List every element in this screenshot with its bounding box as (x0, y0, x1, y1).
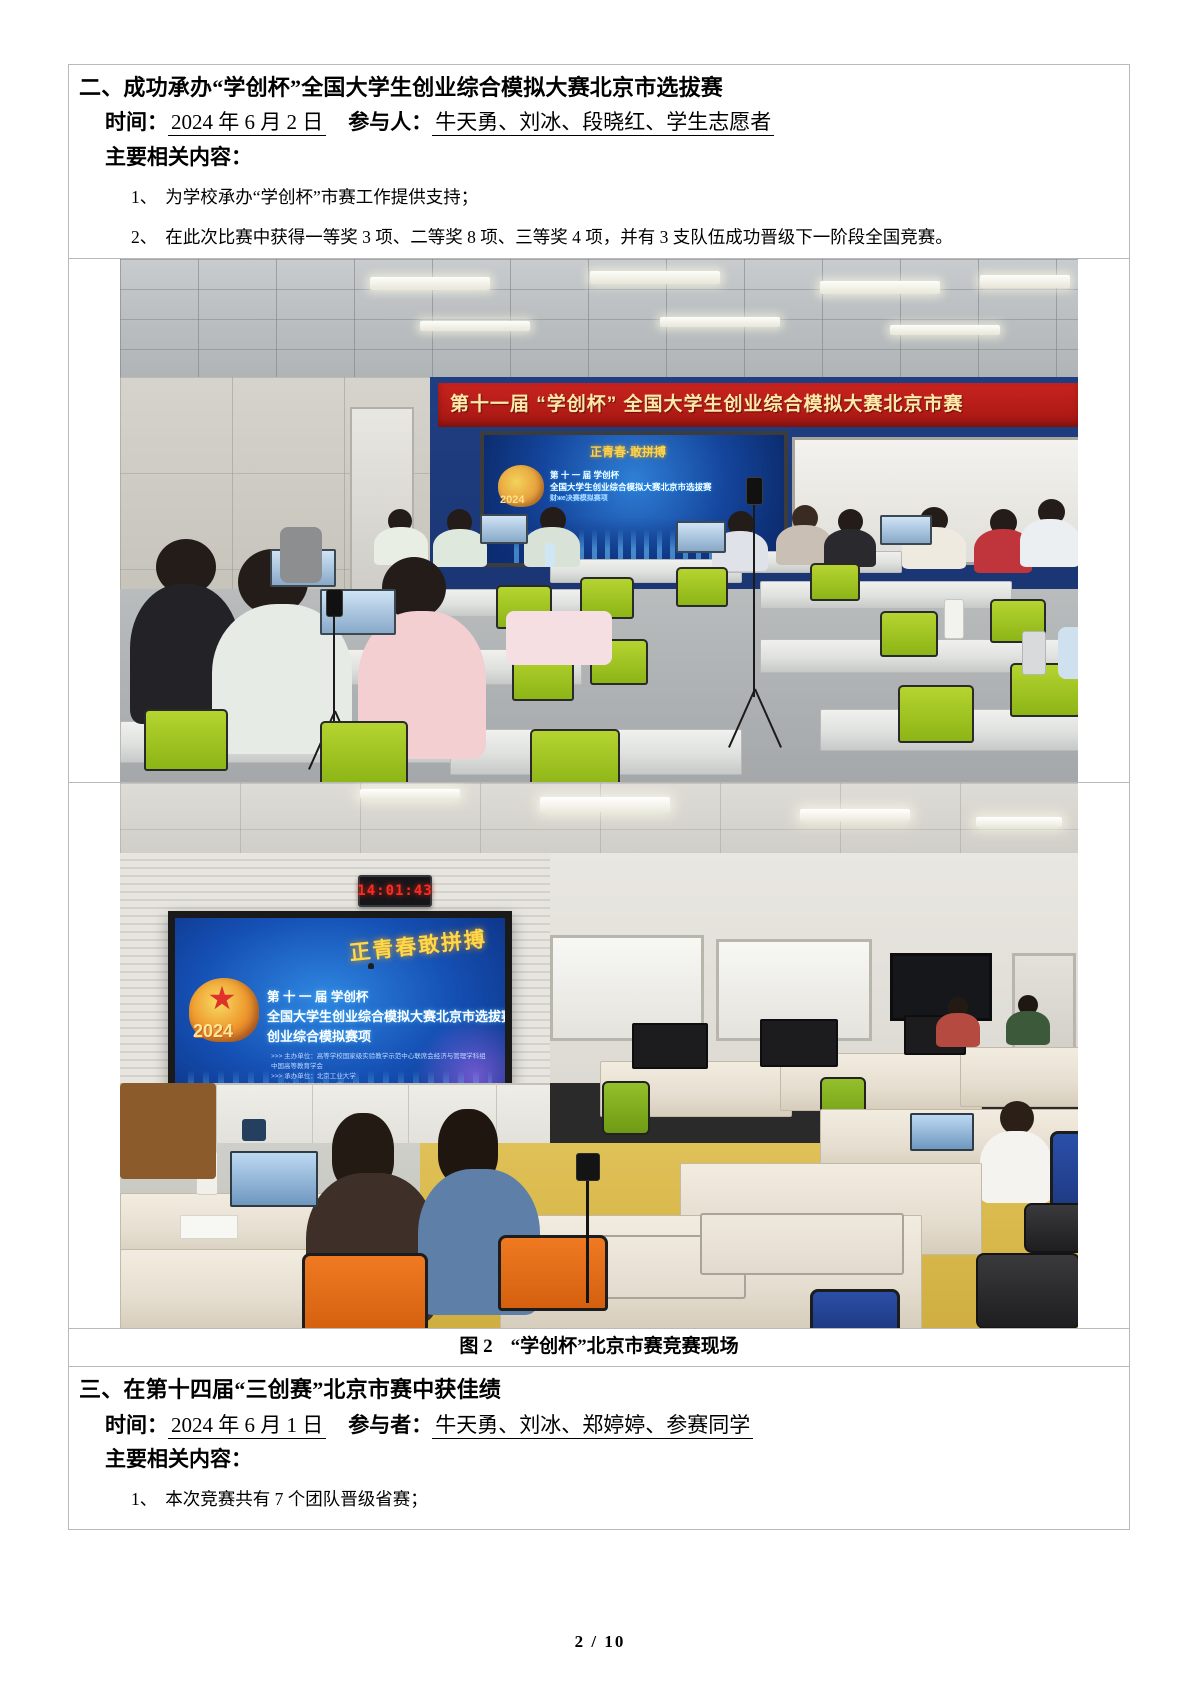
bullet-text: 本次竞赛共有 7 个团队晋级省赛； (165, 1489, 428, 1509)
led-line-1: 第 十 一 届 学创杯 (267, 986, 368, 1005)
chair (530, 729, 620, 782)
digital-clock: 14:01:43 (358, 875, 432, 907)
ceiling-lamp (370, 277, 490, 290)
desk (760, 581, 1012, 609)
led-slogan: 正青春敢拼搏 (348, 922, 488, 966)
event-logo (498, 465, 544, 507)
section-two-bullet-1: 1、为学校承办“学创杯”市赛工作提供支持； (69, 177, 1129, 217)
section-three-heading: 三、在第十四届“三创赛”北京市赛中获佳绩 (69, 1367, 1129, 1408)
chair (976, 1253, 1078, 1328)
ceiling-lamp (360, 789, 460, 799)
section-three-content-label: 主要相关内容： (69, 1442, 1129, 1479)
clock-time: 14:01:43 (357, 883, 432, 899)
section-two-participants-value: 牛天勇、刘冰、段晓红、学生志愿者 (432, 110, 774, 136)
section-two-date-value: 2024 年 6 月 2 日 (168, 110, 326, 136)
chair (810, 1289, 900, 1328)
content-table: 二、成功承办“学创杯”全国大学生创业综合模拟大赛北京市选拔赛 时间：2024 年… (68, 64, 1130, 1530)
bullet-number: 1、 (131, 1489, 157, 1509)
person-body (936, 1013, 980, 1047)
monitor (760, 1019, 838, 1067)
screen-line-3: 财же决赛模拟赛项 (550, 493, 608, 503)
tumbler (1022, 631, 1046, 675)
chair (602, 1081, 650, 1135)
ceiling-lamp (660, 317, 780, 327)
laptop (230, 1151, 318, 1207)
ceiling-lamp (540, 797, 670, 812)
ceiling-lamp (980, 275, 1070, 288)
screen-line-2: 全国大学生创业综合模拟大赛北京市选拔赛 (550, 481, 712, 493)
laptop (910, 1113, 974, 1151)
jacket (1058, 627, 1078, 679)
section-two-block: 二、成功承办“学创杯”全国大学生创业综合模拟大赛北京市选拔赛 时间：2024 年… (69, 65, 1129, 259)
section-three-meta-line: 时间：2024 年 6 月 1 日参与者：牛天勇、刘冰、郑婷婷、参赛同学 (69, 1409, 1129, 1443)
photo-computer-lab: 正青春敢拼搏 第 十 一 届 学创杯 全国大学生创业综合模拟大赛北京市选拔赛 创… (120, 783, 1078, 1328)
ceiling-lamp (420, 321, 530, 331)
competition-banner: 第十一届 “学创杯” 全国大学生创业综合模拟大赛北京市赛 (438, 383, 1078, 427)
chair (320, 721, 408, 782)
section-three-date-label: 时间： (105, 1413, 168, 1437)
tripod-pole (753, 497, 755, 697)
chair (302, 1253, 428, 1328)
water-bottle (545, 543, 555, 567)
section-three-bullet-1: 1、本次竞赛共有 7 个团队晋级省赛； (69, 1479, 1129, 1528)
backpack (280, 527, 322, 583)
person-head (1000, 1101, 1034, 1135)
section-three-participants-value: 牛天勇、刘冰、郑婷婷、参赛同学 (432, 1413, 753, 1439)
person-body (824, 529, 876, 567)
chair (676, 567, 728, 607)
ceiling-lamp (800, 809, 910, 821)
bullet-number: 2、 (131, 227, 157, 247)
screen-slogan: 正青春·敢拼搏 (590, 443, 666, 460)
page-number: 2 / 10 (0, 1632, 1200, 1652)
figure-caption-row: 图 2“学创杯”北京市赛竞赛现场 (69, 1329, 1129, 1368)
desk (960, 1047, 1078, 1107)
chair (368, 963, 374, 969)
banner-text: 第十一届 “学创杯” 全国大学生创业综合模拟大赛北京市赛 (450, 389, 964, 416)
laptop (676, 521, 726, 553)
section-two-participants-label: 参与人： (348, 110, 432, 134)
bullet-text: 为学校承办“学创杯”市赛工作提供支持； (165, 187, 478, 207)
section-three-block: 三、在第十四届“三创赛”北京市赛中获佳绩 时间：2024 年 6 月 1 日参与… (69, 1367, 1129, 1528)
chair (898, 685, 974, 743)
section-two-date-label: 时间： (105, 110, 168, 134)
photo-two-row: 正青春敢拼搏 第 十 一 届 学创杯 全国大学生创业综合模拟大赛北京市选拔赛 创… (69, 783, 1129, 1329)
ceiling-lamp (976, 817, 1062, 827)
person-body (1006, 1011, 1050, 1045)
section-three-participants-label: 参与者： (348, 1413, 432, 1437)
led-line-2: 全国大学生创业综合模拟大赛北京市选拔赛 (267, 1006, 512, 1025)
chair (498, 1235, 608, 1311)
photo-competition-classroom: 第十一届 “学创杯” 全国大学生创业综合模拟大赛北京市赛 正青春·敢拼搏 第 十… (120, 259, 1078, 782)
chair (1024, 1203, 1078, 1253)
laptop (480, 514, 528, 544)
cup (944, 599, 964, 639)
ceiling-lamp (890, 325, 1000, 335)
section-two-heading: 二、成功承办“学创杯”全国大学生创业综合模拟大赛北京市选拔赛 (69, 65, 1129, 106)
person-body (1020, 519, 1078, 567)
led-line-3: 创业综合模拟赛项 (267, 1026, 371, 1045)
desk-inlay (700, 1213, 904, 1275)
event-logo (189, 978, 259, 1042)
person-body (980, 1131, 1052, 1203)
figure-label: 图 2 (459, 1336, 492, 1357)
bullet-number: 1、 (131, 187, 157, 207)
section-two-bullet-2: 2、在此次比赛中获得一等奖 3 项、二等奖 8 项、三等奖 4 项，并有 3 支… (69, 217, 1129, 257)
chair (144, 709, 228, 771)
section-two-content-label: 主要相关内容： (69, 140, 1129, 177)
smartphone (326, 589, 343, 617)
cup (242, 1119, 266, 1141)
chair (810, 563, 860, 601)
figure-title: “学创杯”北京市赛竞赛现场 (511, 1336, 739, 1357)
screen-line-1: 第 十 一 届 学创杯 (550, 469, 619, 481)
monitor (632, 1023, 708, 1069)
document-page: 二、成功承办“学创杯”全国大学生创业综合模拟大赛北京市选拔赛 时间：2024 年… (0, 0, 1200, 1697)
bullet-text: 在此次比赛中获得一等奖 3 项、二等奖 8 项、三等奖 4 项，并有 3 支队伍… (165, 227, 953, 247)
figure-caption: 图 2“学创杯”北京市赛竞赛现场 (69, 1329, 1129, 1367)
camera (576, 1153, 600, 1181)
laptop (880, 515, 932, 545)
wooden-podium (120, 1083, 216, 1179)
tripod-legs (718, 689, 790, 751)
tripod-pole (333, 615, 335, 723)
ceiling-lamp (820, 281, 940, 294)
chair (880, 611, 938, 657)
person-body (433, 529, 487, 567)
section-three-date-value: 2024 年 6 月 1 日 (168, 1413, 326, 1439)
section-two-meta-line: 时间：2024 年 6 月 2 日参与人：牛天勇、刘冰、段晓红、学生志愿者 (69, 106, 1129, 140)
tripod-pole (586, 1173, 589, 1303)
paper (180, 1215, 238, 1239)
backpack (506, 611, 612, 665)
photo-one-row: 第十一届 “学创杯” 全国大学生创业综合模拟大赛北京市赛 正青春·敢拼搏 第 十… (69, 259, 1129, 783)
ceiling-lamp (590, 271, 720, 284)
smartphone (746, 477, 763, 505)
wall-monitor (890, 953, 992, 1021)
